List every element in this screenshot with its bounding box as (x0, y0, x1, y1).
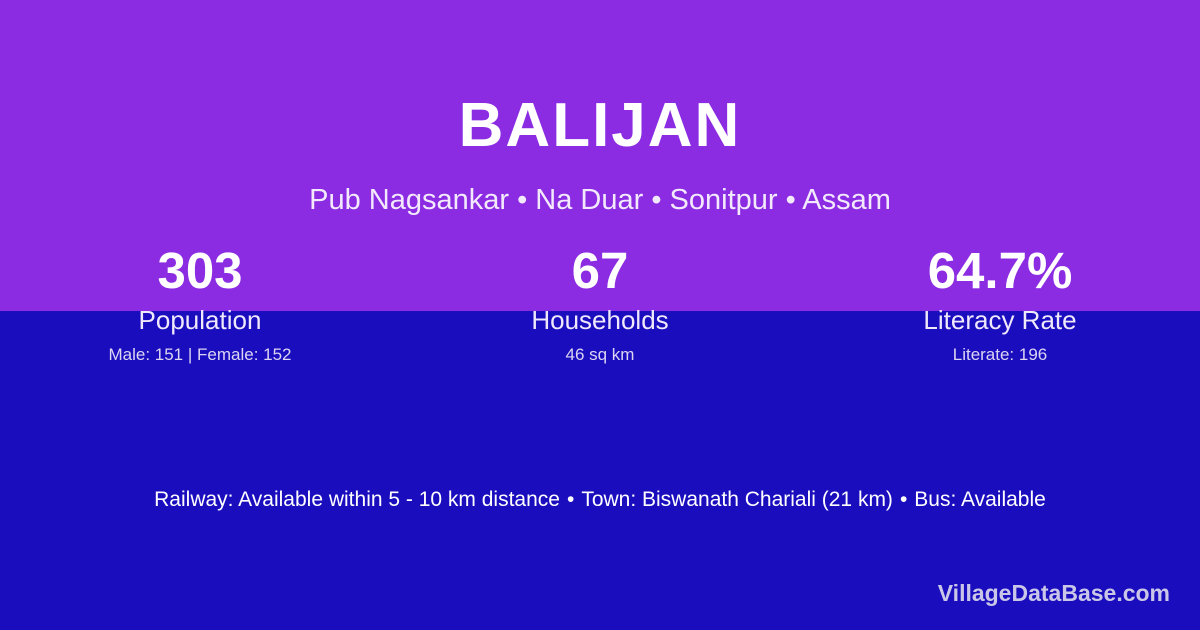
facility-railway: Railway: Available within 5 - 10 km dist… (154, 488, 560, 511)
stat-literacy-rate: 64.7% Literacy Rate Literate: 196 (800, 243, 1200, 367)
stat-sublabel: Male: 151 | Female: 152 (0, 343, 400, 367)
stat-value: 64.7% (800, 243, 1200, 299)
page-title: BALIJAN (0, 86, 1200, 166)
stat-households: 67 Households 46 sq km (400, 243, 800, 367)
stat-value: 67 (400, 243, 800, 299)
site-brand: VillageDataBase.com (938, 579, 1170, 607)
stat-label: Population (0, 303, 400, 337)
village-info-card: BALIJAN Pub Nagsankar • Na Duar • Sonitp… (0, 0, 1200, 630)
facility-separator: • (893, 488, 914, 511)
stat-sublabel: 46 sq km (400, 343, 800, 367)
stat-sublabel: Literate: 196 (800, 343, 1200, 367)
stat-label: Households (400, 303, 800, 337)
facilities-line: Railway: Available within 5 - 10 km dist… (0, 485, 1200, 515)
stat-value: 303 (0, 243, 400, 299)
stat-population: 303 Population Male: 151 | Female: 152 (0, 243, 400, 367)
facility-town: Town: Biswanath Chariali (21 km) (581, 488, 893, 511)
facility-bus: Bus: Available (914, 488, 1046, 511)
location-breadcrumb: Pub Nagsankar • Na Duar • Sonitpur • Ass… (0, 181, 1200, 219)
stats-row: 303 Population Male: 151 | Female: 152 6… (0, 243, 1200, 367)
facility-separator: • (560, 488, 581, 511)
stat-label: Literacy Rate (800, 303, 1200, 337)
